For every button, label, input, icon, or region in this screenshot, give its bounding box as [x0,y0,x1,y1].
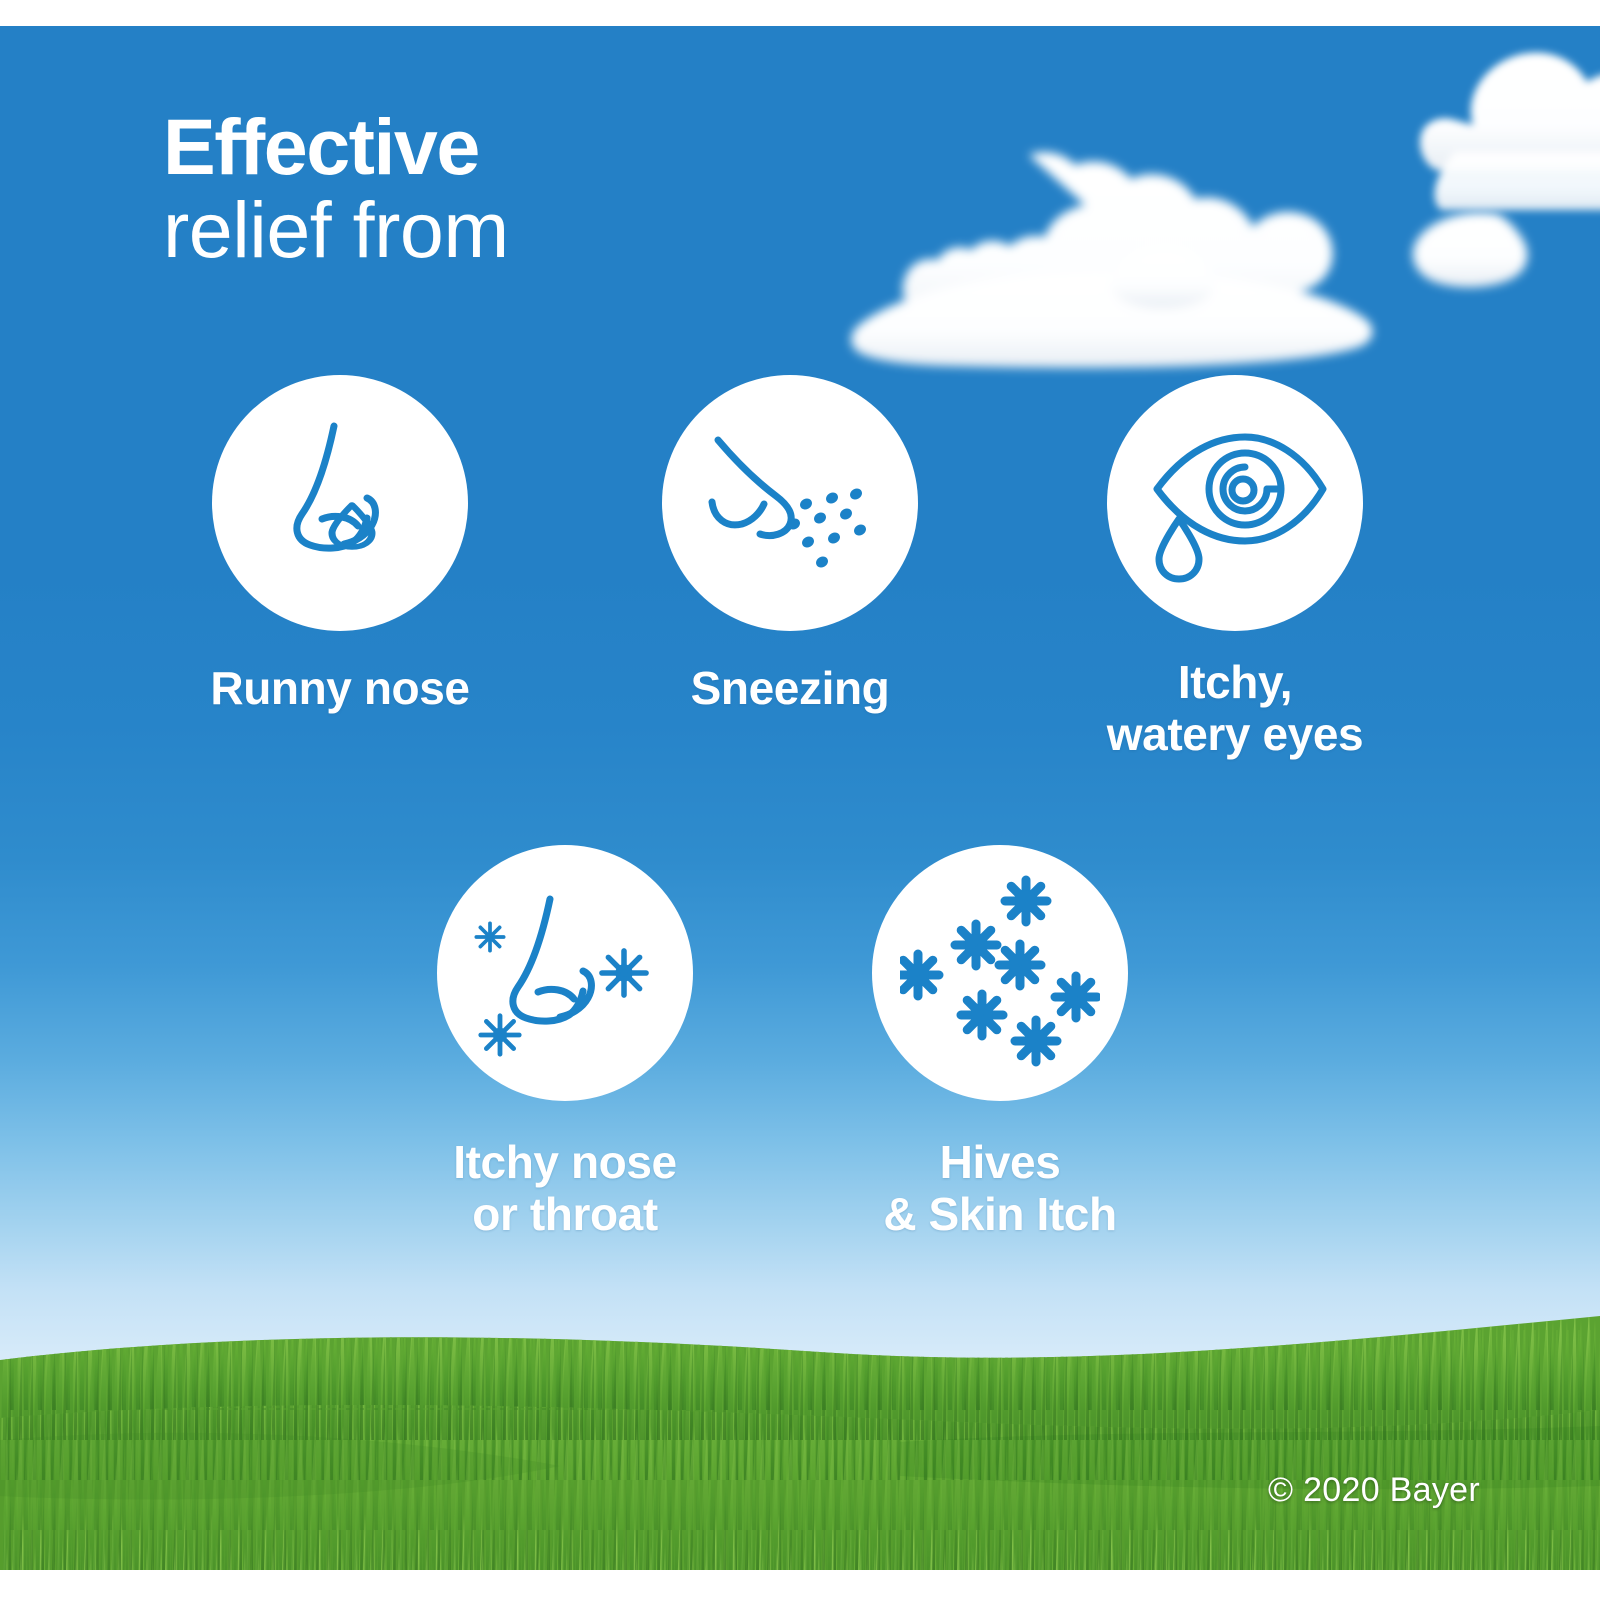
symptom-bubble-sneezing [662,375,918,631]
sneezing-nose-icon [702,418,878,588]
top-white-band [0,0,1600,26]
runny-nose-icon [260,418,420,588]
itchy-nose-pollen-icon [472,885,658,1061]
headline-line-1: Effective [163,108,509,185]
symptom-item-itchy-watery-eyes: Itchy, watery eyes [977,375,1493,760]
grass-field [0,1290,1600,1570]
bottom-white-band [0,1570,1600,1600]
symptom-item-runny-nose: Runny nose [82,375,598,715]
symptom-item-hives-skin-itch: Hives & Skin Itch [742,845,1258,1240]
headline-line-2: relief from [163,191,509,268]
symptom-bubble-runny-nose [212,375,468,631]
symptom-label-sneezing: Sneezing [532,663,1048,715]
symptom-label-runny-nose: Runny nose [82,663,598,715]
copyright-notice: © 2020 Bayer [1268,1471,1480,1510]
allergy-relief-poster: Effective relief from Runny nose [0,0,1600,1600]
watery-eye-icon [1141,423,1329,583]
hives-pollen-cluster-icon [900,875,1100,1071]
symptom-bubble-itchy-nose-or-throat [437,845,693,1101]
symptom-label-itchy-watery-eyes: Itchy, watery eyes [977,657,1493,760]
symptom-label-hives-skin-itch: Hives & Skin Itch [742,1137,1258,1240]
page-title: Effective relief from [163,108,509,269]
symptom-bubble-hives-skin-itch [872,845,1128,1101]
symptom-item-sneezing: Sneezing [532,375,1048,715]
symptom-bubble-itchy-watery-eyes [1107,375,1363,631]
